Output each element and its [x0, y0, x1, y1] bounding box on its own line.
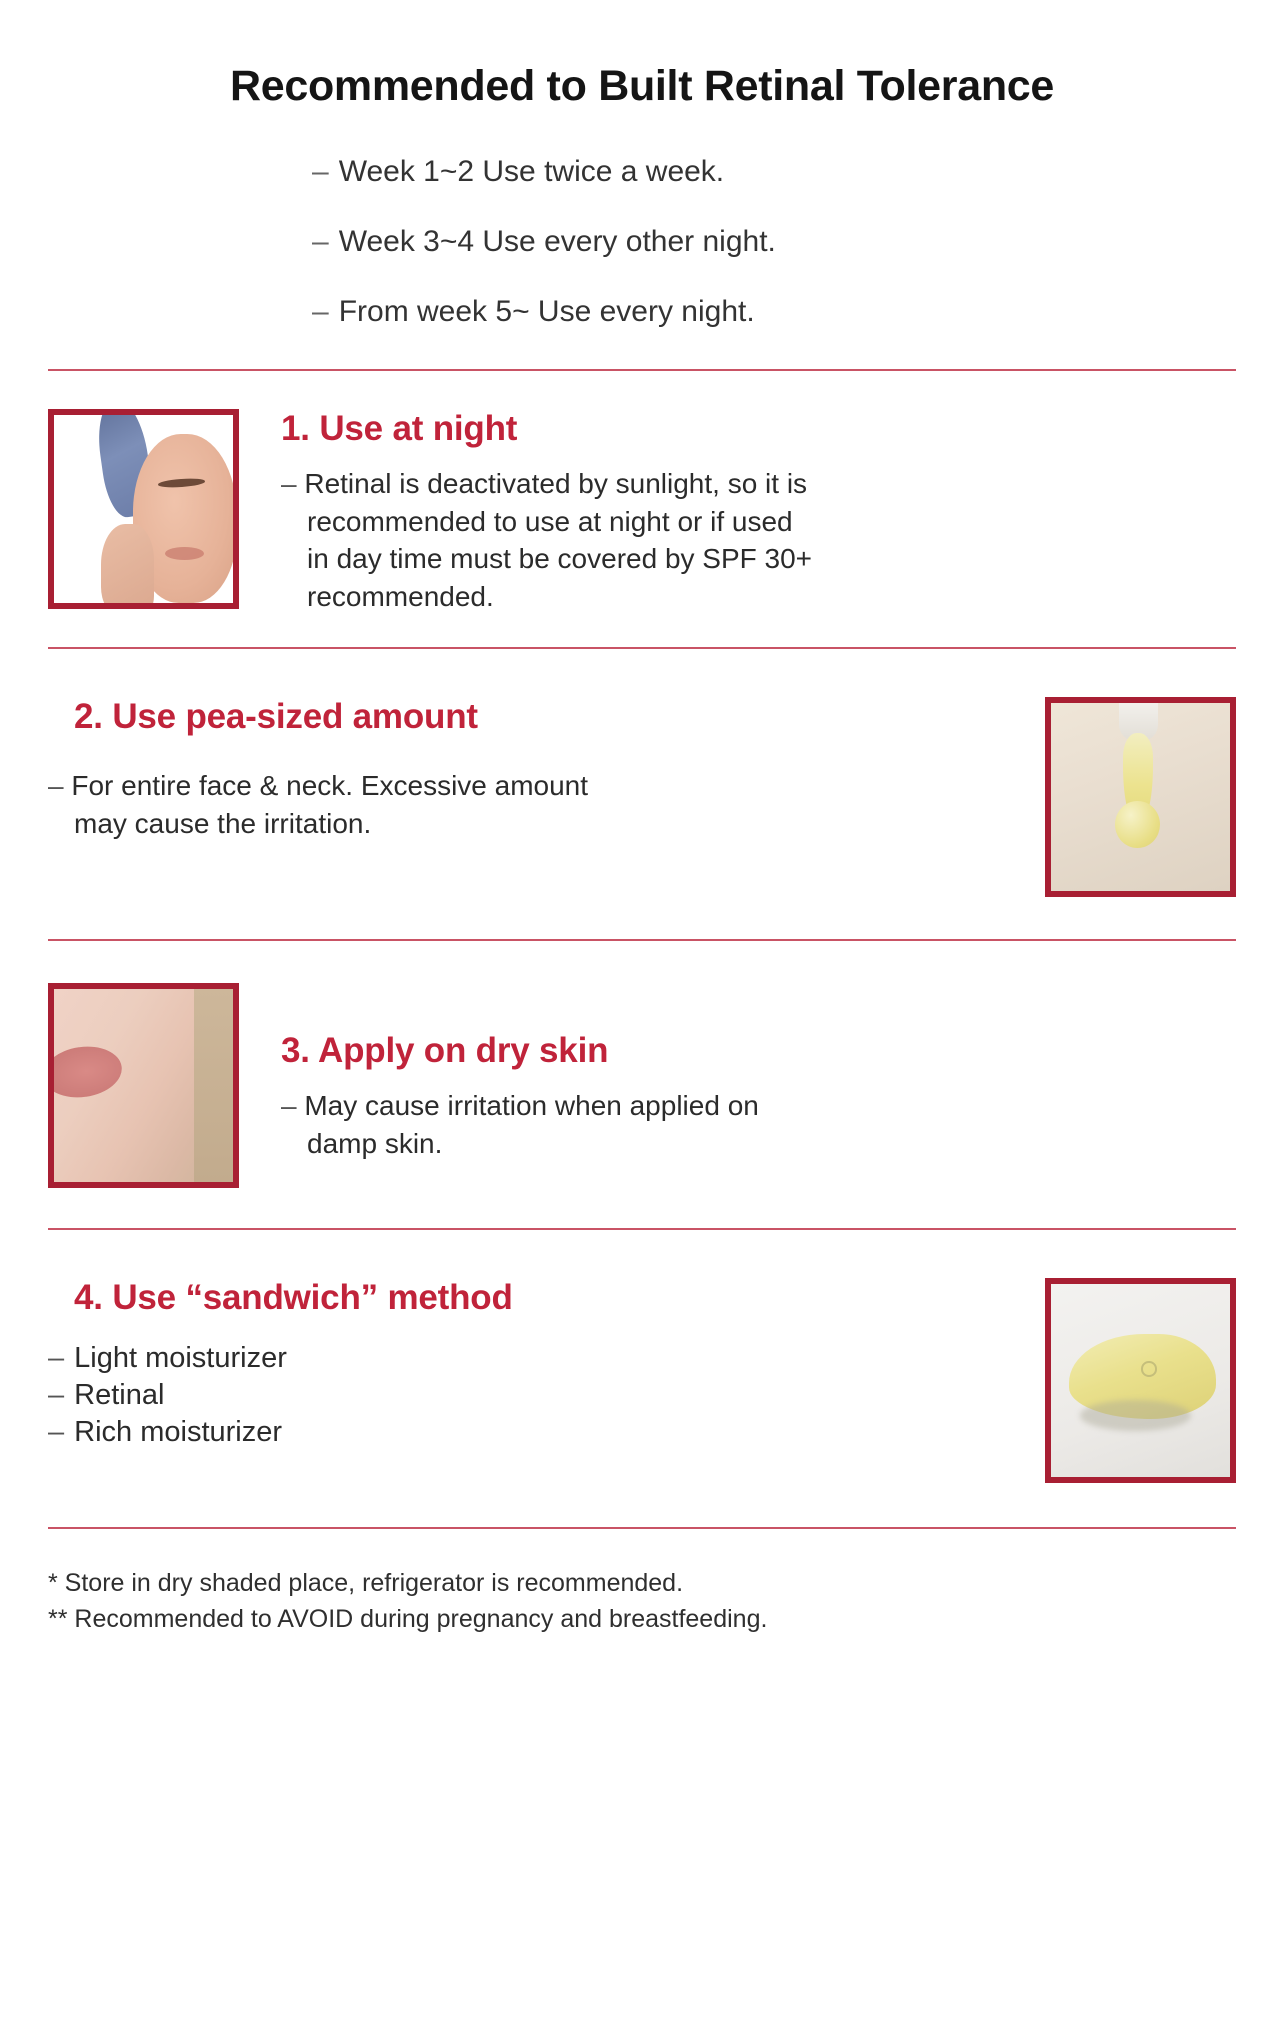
sandwich-step: –Light moisturizer — [48, 1340, 1003, 1377]
body-line: Retinal is deactivated by sunlight, so i… — [304, 468, 807, 499]
section-body: – For entire face & neck. Excessive amou… — [48, 767, 1003, 842]
dash-marker: – — [312, 225, 329, 258]
dash-marker: – — [48, 1416, 64, 1448]
body-line: For entire face & neck. Excessive amount — [71, 770, 588, 801]
section-body: – May cause irritation when applied on d… — [281, 1087, 1236, 1162]
sandwich-step: –Retinal — [48, 1377, 1003, 1414]
sandwich-step-text: Rich moisturizer — [74, 1416, 282, 1448]
schedule-item: –Week 3~4 Use every other night. — [312, 227, 1284, 257]
section-heading: 4. Use “sandwich” method — [74, 1278, 1003, 1318]
cream-swatch-photo — [1045, 1278, 1236, 1483]
page-title: Recommended to Built Retinal Tolerance — [0, 0, 1284, 111]
section-divider — [48, 647, 1236, 649]
dash-marker: – — [48, 1342, 64, 1374]
dash-marker: – — [312, 295, 329, 328]
section-heading: 2. Use pea-sized amount — [74, 697, 1003, 737]
section-heading: 1. Use at night — [281, 409, 1236, 449]
body-line: May cause irritation when applied on — [304, 1090, 758, 1121]
section-pea-sized-amount: 2. Use pea-sized amount – For entire fac… — [0, 697, 1284, 897]
dash-marker: – — [48, 770, 64, 801]
cheek-closeup-photo — [48, 983, 239, 1188]
section-divider — [48, 369, 1236, 371]
footnotes: * Store in dry shaded place, refrigerato… — [0, 1565, 1284, 1638]
sandwich-steps-list: –Light moisturizer –Retinal –Rich moistu… — [48, 1340, 1003, 1451]
body-line: damp skin. — [307, 1128, 442, 1159]
dash-marker: – — [281, 1090, 297, 1121]
body-line: recommended. — [307, 581, 494, 612]
section-use-at-night: 1. Use at night – Retinal is deactivated… — [0, 409, 1284, 615]
footnote-storage: * Store in dry shaded place, refrigerato… — [48, 1565, 1236, 1601]
serum-drop-photo — [1045, 697, 1236, 897]
dash-marker: – — [312, 155, 329, 188]
section-divider — [48, 939, 1236, 941]
schedule-item: –Week 1~2 Use twice a week. — [312, 157, 1284, 187]
tolerance-schedule-list: –Week 1~2 Use twice a week. –Week 3~4 Us… — [0, 157, 1284, 327]
sandwich-step: –Rich moisturizer — [48, 1414, 1003, 1451]
section-body: – Retinal is deactivated by sunlight, so… — [281, 465, 1236, 615]
section-divider — [48, 1527, 1236, 1529]
schedule-item-text: From week 5~ Use every night. — [339, 295, 755, 328]
body-line: recommended to use at night or if used — [307, 506, 793, 537]
body-line: may cause the irritation. — [74, 808, 371, 839]
sandwich-step-text: Retinal — [74, 1379, 164, 1411]
section-sandwich-method: 4. Use “sandwich” method –Light moisturi… — [0, 1278, 1284, 1483]
schedule-item-text: Week 3~4 Use every other night. — [339, 225, 776, 258]
dash-marker: – — [281, 468, 297, 499]
sandwich-step-text: Light moisturizer — [74, 1342, 287, 1374]
footnote-pregnancy-warning: ** Recommended to AVOID during pregnancy… — [48, 1601, 1236, 1637]
woman-touching-face-photo — [48, 409, 239, 609]
body-line: in day time must be covered by SPF 30+ — [307, 543, 812, 574]
schedule-item: –From week 5~ Use every night. — [312, 297, 1284, 327]
section-heading: 3. Apply on dry skin — [281, 1031, 1236, 1071]
infographic-page: Recommended to Built Retinal Tolerance –… — [0, 0, 1284, 2038]
section-apply-on-dry-skin: 3. Apply on dry skin – May cause irritat… — [0, 983, 1284, 1188]
section-divider — [48, 1228, 1236, 1230]
schedule-item-text: Week 1~2 Use twice a week. — [339, 155, 724, 188]
dash-marker: – — [48, 1379, 64, 1411]
